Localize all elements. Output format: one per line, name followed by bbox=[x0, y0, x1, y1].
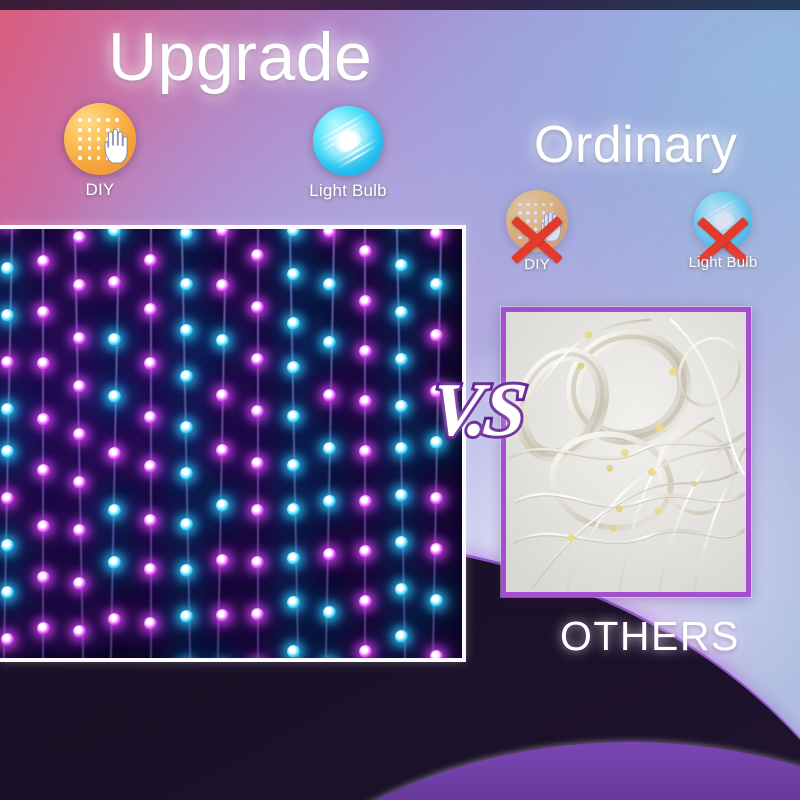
feature-ordinary-light-bulb: Light Bulb bbox=[685, 192, 761, 270]
led-strand bbox=[78, 229, 81, 658]
strand-wire bbox=[150, 229, 152, 658]
led-bulb bbox=[1, 403, 14, 416]
led-bulb bbox=[73, 279, 86, 292]
led-bulb bbox=[359, 595, 372, 608]
led-bulb bbox=[37, 255, 50, 268]
led-strand bbox=[42, 229, 45, 658]
led-bulb bbox=[395, 353, 408, 366]
led-bulb bbox=[395, 489, 408, 502]
strand-wire bbox=[288, 229, 299, 658]
led-bulb bbox=[216, 334, 229, 347]
strand-wire bbox=[109, 229, 120, 658]
led-bulb bbox=[287, 596, 300, 609]
light-bulb-icon bbox=[313, 106, 383, 176]
led-bulb bbox=[395, 400, 408, 413]
led-bulb bbox=[37, 571, 50, 584]
led-bulb bbox=[323, 548, 336, 561]
page-title-upgrade: Upgrade bbox=[108, 22, 372, 93]
led-strand bbox=[6, 229, 9, 658]
led-bulb bbox=[144, 617, 157, 630]
pointing-hand-cursor-icon bbox=[538, 210, 564, 242]
led-bulb bbox=[180, 467, 193, 480]
led-bulb bbox=[37, 357, 50, 370]
led-bulb bbox=[251, 249, 264, 262]
led-bulb bbox=[108, 333, 121, 346]
led-bulb bbox=[395, 536, 408, 549]
led-bulb bbox=[251, 457, 264, 470]
led-strand bbox=[113, 229, 116, 658]
strand-wire bbox=[181, 229, 192, 658]
led-bulb bbox=[251, 608, 264, 621]
led-bulb bbox=[430, 278, 443, 291]
led-bulb bbox=[108, 556, 121, 569]
led-bulb bbox=[216, 554, 229, 567]
led-strand bbox=[328, 229, 331, 658]
led-bulb bbox=[359, 295, 372, 308]
led-strand bbox=[364, 229, 367, 658]
led-strand bbox=[221, 229, 224, 658]
led-bulb bbox=[108, 390, 121, 403]
feature-label: DIY bbox=[55, 180, 145, 200]
feature-label: Light Bulb bbox=[687, 255, 759, 270]
led-bulb bbox=[73, 231, 86, 244]
feature-upgrade-diy: DIY bbox=[55, 103, 145, 200]
led-bulb bbox=[287, 410, 300, 423]
led-bulb bbox=[251, 353, 264, 366]
diy-dot-matrix-icon bbox=[64, 103, 136, 175]
led-bulb bbox=[216, 389, 229, 402]
background-top-strip bbox=[0, 0, 800, 10]
led-bulb bbox=[287, 503, 300, 516]
led-bulb bbox=[37, 464, 50, 477]
led-bulb bbox=[287, 552, 300, 565]
led-bulb bbox=[430, 543, 443, 556]
led-bulb bbox=[430, 594, 443, 607]
led-bulb bbox=[180, 370, 193, 383]
led-bulb bbox=[180, 229, 193, 240]
others-label: OTHERS bbox=[560, 613, 740, 660]
led-bulb bbox=[73, 476, 86, 489]
led-bulb bbox=[216, 609, 229, 622]
led-bulb bbox=[1, 586, 14, 599]
led-bulb bbox=[1, 445, 14, 458]
strand-wire bbox=[257, 229, 259, 658]
diy-dot-matrix-icon bbox=[506, 190, 568, 252]
tangled-wire-illustration bbox=[506, 312, 746, 592]
led-bulb bbox=[144, 460, 157, 473]
led-bulb bbox=[216, 444, 229, 457]
led-bulb bbox=[430, 329, 443, 342]
led-bulb bbox=[73, 380, 86, 393]
led-bulb bbox=[395, 442, 408, 455]
led-bulb bbox=[323, 278, 336, 291]
led-bulb bbox=[73, 332, 86, 345]
led-bulb bbox=[430, 650, 443, 658]
led-bulb bbox=[395, 259, 408, 272]
led-bulb bbox=[180, 324, 193, 337]
led-bulb bbox=[180, 518, 193, 531]
led-bulb bbox=[359, 545, 372, 558]
led-bulb bbox=[251, 405, 264, 418]
led-bulb bbox=[144, 411, 157, 424]
led-bulb bbox=[395, 630, 408, 643]
led-bulb bbox=[287, 317, 300, 330]
led-bulb bbox=[323, 442, 336, 455]
led-bulb bbox=[37, 622, 50, 635]
led-bulb bbox=[144, 563, 157, 576]
led-bulb bbox=[251, 301, 264, 314]
led-bulb bbox=[323, 495, 336, 508]
page-title-ordinary: Ordinary bbox=[534, 118, 737, 173]
versus-badge: V.S bbox=[428, 372, 526, 448]
led-bulb bbox=[73, 625, 86, 638]
led-bulb bbox=[323, 606, 336, 619]
led-bulb bbox=[108, 613, 121, 626]
feature-upgrade-light-bulb: Light Bulb bbox=[296, 106, 400, 201]
led-bulb bbox=[359, 645, 372, 658]
led-bulb bbox=[395, 306, 408, 319]
led-bulb bbox=[251, 504, 264, 517]
led-bulb bbox=[73, 577, 86, 590]
led-bulb bbox=[287, 268, 300, 281]
tangled-wire-photo bbox=[501, 307, 751, 597]
feature-ordinary-diy: DIY bbox=[499, 190, 575, 272]
led-bulb bbox=[1, 633, 14, 646]
led-bulb bbox=[251, 556, 264, 569]
pointing-hand-cursor-icon bbox=[101, 127, 131, 164]
led-bulb bbox=[180, 278, 193, 291]
led-bulb bbox=[1, 262, 14, 275]
led-bulb bbox=[359, 395, 372, 408]
led-curtain-canvas bbox=[0, 229, 462, 658]
led-bulb bbox=[73, 524, 86, 537]
led-bulb bbox=[287, 459, 300, 472]
led-bulb bbox=[1, 492, 14, 505]
led-bulb bbox=[323, 336, 336, 349]
led-strand bbox=[292, 229, 295, 658]
led-bulb bbox=[359, 495, 372, 508]
led-strand bbox=[256, 229, 259, 658]
led-strand bbox=[149, 229, 152, 658]
led-bulb bbox=[287, 361, 300, 374]
strand-wire bbox=[42, 229, 44, 658]
led-bulb bbox=[216, 279, 229, 292]
light-bulb-icon bbox=[694, 192, 752, 250]
led-bulb bbox=[1, 309, 14, 322]
feature-label: Light Bulb bbox=[296, 181, 400, 201]
strand-wire bbox=[364, 229, 366, 658]
led-curtain-photo bbox=[0, 225, 466, 662]
led-bulb bbox=[180, 421, 193, 434]
feature-label: DIY bbox=[501, 257, 573, 272]
led-bulb bbox=[144, 303, 157, 316]
led-bulb bbox=[359, 345, 372, 358]
led-bulb bbox=[323, 389, 336, 402]
led-bulb bbox=[37, 306, 50, 319]
led-bulb bbox=[216, 499, 229, 512]
led-bulb bbox=[180, 564, 193, 577]
led-bulb bbox=[108, 504, 121, 517]
led-bulb bbox=[144, 514, 157, 527]
led-bulb bbox=[359, 445, 372, 458]
led-bulb bbox=[1, 539, 14, 552]
led-bulb bbox=[37, 520, 50, 533]
led-bulb bbox=[1, 356, 14, 369]
comparison-infographic: Upgrade Ordinary DIY bbox=[0, 0, 800, 800]
led-bulb bbox=[359, 245, 372, 258]
led-strand bbox=[400, 229, 403, 658]
led-bulb bbox=[108, 276, 121, 289]
led-bulb bbox=[287, 229, 300, 237]
led-bulb bbox=[180, 610, 193, 623]
led-bulb bbox=[108, 447, 121, 460]
led-bulb bbox=[144, 254, 157, 267]
led-bulb bbox=[37, 413, 50, 426]
led-bulb bbox=[430, 492, 443, 505]
led-strand bbox=[185, 229, 188, 658]
led-bulb bbox=[144, 357, 157, 370]
led-bulb bbox=[73, 428, 86, 441]
strand-wire bbox=[74, 229, 85, 658]
led-bulb bbox=[395, 583, 408, 596]
